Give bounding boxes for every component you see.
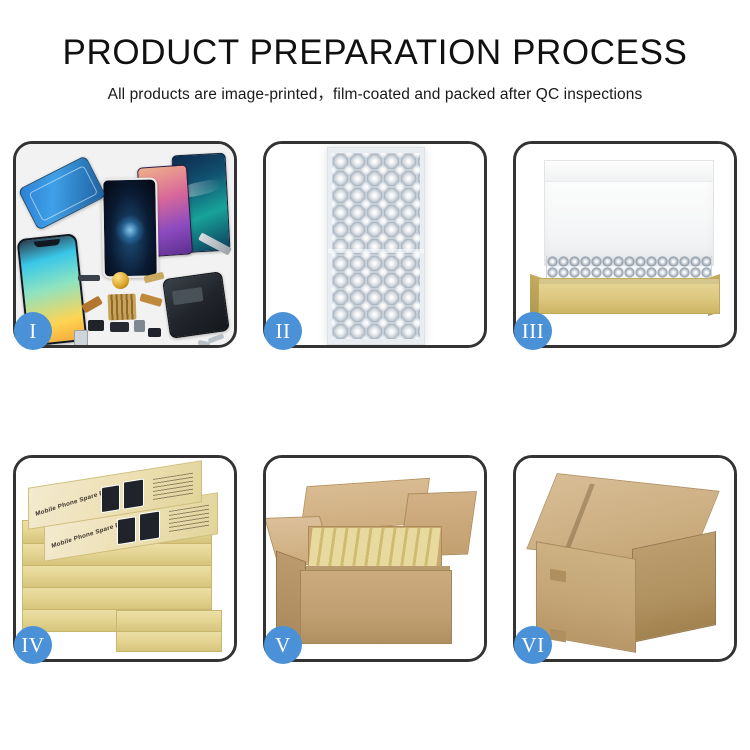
step-badge-1: I	[14, 312, 52, 350]
step-card-2: II	[263, 141, 487, 348]
part-connector	[81, 296, 103, 314]
carton-front	[300, 570, 452, 644]
phone-parts-assortment-image	[16, 144, 234, 345]
step-card-5: V	[263, 455, 487, 662]
open-inner-box-image	[516, 144, 734, 345]
page-title: PRODUCT PREPARATION PROCESS	[0, 0, 750, 73]
step-card-3: III	[513, 141, 737, 348]
part-chip	[148, 328, 161, 337]
process-steps-grid: I II III	[13, 141, 737, 738]
phone-screen-black	[101, 178, 159, 279]
sealed-shipping-carton-image	[516, 458, 734, 659]
step-card-4: Mobile Phone Spare Parts Mobile Phone Sp…	[13, 455, 237, 662]
retail-box-slab	[116, 630, 222, 652]
part-screw	[208, 333, 225, 343]
step-badge-5: V	[264, 626, 302, 664]
retail-box-slab	[116, 610, 222, 632]
step-badge-2: II	[264, 312, 302, 350]
part-strip	[78, 275, 100, 281]
stacked-retail-boxes-image: Mobile Phone Spare Parts Mobile Phone Sp…	[16, 458, 234, 659]
part-camera	[88, 320, 104, 331]
retail-box-slab	[22, 564, 212, 588]
part-bracket	[134, 320, 145, 332]
inner-box-lid	[544, 160, 714, 266]
part-sim-tray	[74, 330, 88, 345]
retail-box-screen-graphic	[101, 484, 120, 513]
retail-box-slab	[22, 586, 212, 610]
mesh-part-icon	[108, 294, 137, 321]
phone-back-cover	[162, 271, 230, 339]
phone-adhesive-blue	[18, 155, 107, 230]
page-subtitle: All products are image-printed，film-coat…	[0, 73, 750, 104]
step-card-1: I	[13, 141, 237, 348]
retail-box-screen-graphic	[123, 478, 144, 509]
step-badge-6: VI	[514, 626, 552, 664]
retail-box-spec-lines	[169, 505, 209, 533]
retail-box-screen-graphic	[139, 510, 160, 541]
speaker-part-icon	[112, 272, 129, 289]
open-shipping-carton-image	[266, 458, 484, 659]
part-ribbon	[139, 293, 162, 307]
sealed-carton-side-right	[632, 531, 716, 643]
retail-box-screen-graphic	[117, 516, 136, 545]
step-badge-4: IV	[14, 626, 52, 664]
pouch-seam	[328, 249, 424, 253]
bubble-pouch	[327, 147, 425, 345]
part-module	[110, 322, 129, 332]
sealed-carton-tape-lower	[550, 629, 566, 643]
page-header: PRODUCT PREPARATION PROCESS All products…	[0, 0, 750, 104]
step-badge-3: III	[514, 312, 552, 350]
bubble-wrap-pouch-image	[266, 144, 484, 345]
bubble-pattern-offset	[332, 153, 420, 339]
step-card-6: VI	[513, 455, 737, 662]
inner-box-front	[538, 278, 720, 314]
retail-box-spec-lines	[153, 473, 193, 501]
